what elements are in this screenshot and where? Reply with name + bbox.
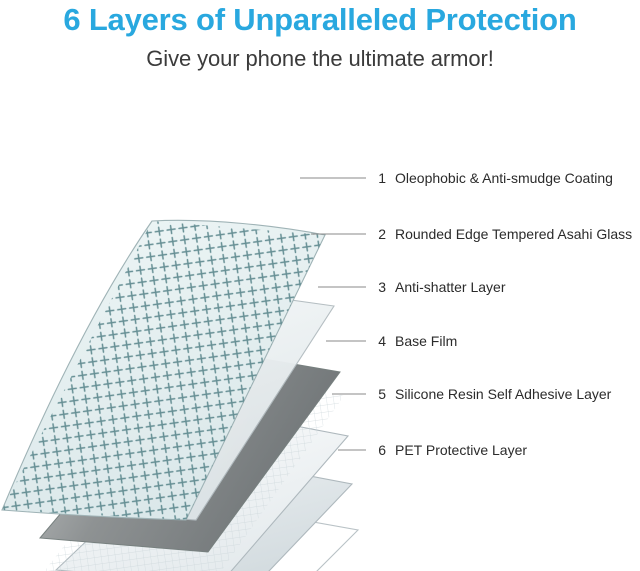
layer-labels: 1 Oleophobic & Anti-smudge Coating 2 Rou… [0,90,640,571]
layer-3-text: Anti-shatter Layer [395,279,506,295]
layer-1-number: 1 [372,170,386,186]
layer-label-5: 5 Silicone Resin Self Adhesive Layer [372,386,611,402]
layer-1-text: Oleophobic & Anti-smudge Coating [395,170,613,186]
infographic-root: 6 Layers of Unparalleled Protection Give… [0,0,640,571]
layer-label-4: 4 Base Film [372,333,457,349]
layer-4-text: Base Film [395,333,457,349]
layer-2-number: 2 [372,226,386,242]
page-title: 6 Layers of Unparalleled Protection [0,2,640,38]
page-subtitle: Give your phone the ultimate armor! [0,46,640,72]
layer-label-2: 2 Rounded Edge Tempered Asahi Glass [372,226,632,242]
layer-5-number: 5 [372,386,386,402]
layer-label-3: 3 Anti-shatter Layer [372,279,506,295]
layer-5-text: Silicone Resin Self Adhesive Layer [395,386,611,402]
layer-2-text: Rounded Edge Tempered Asahi Glass [395,226,632,242]
layer-6-text: PET Protective Layer [395,442,527,458]
layer-label-1: 1 Oleophobic & Anti-smudge Coating [372,170,613,186]
layer-6-number: 6 [372,442,386,458]
layer-label-6: 6 PET Protective Layer [372,442,527,458]
layer-4-number: 4 [372,333,386,349]
layer-3-number: 3 [372,279,386,295]
